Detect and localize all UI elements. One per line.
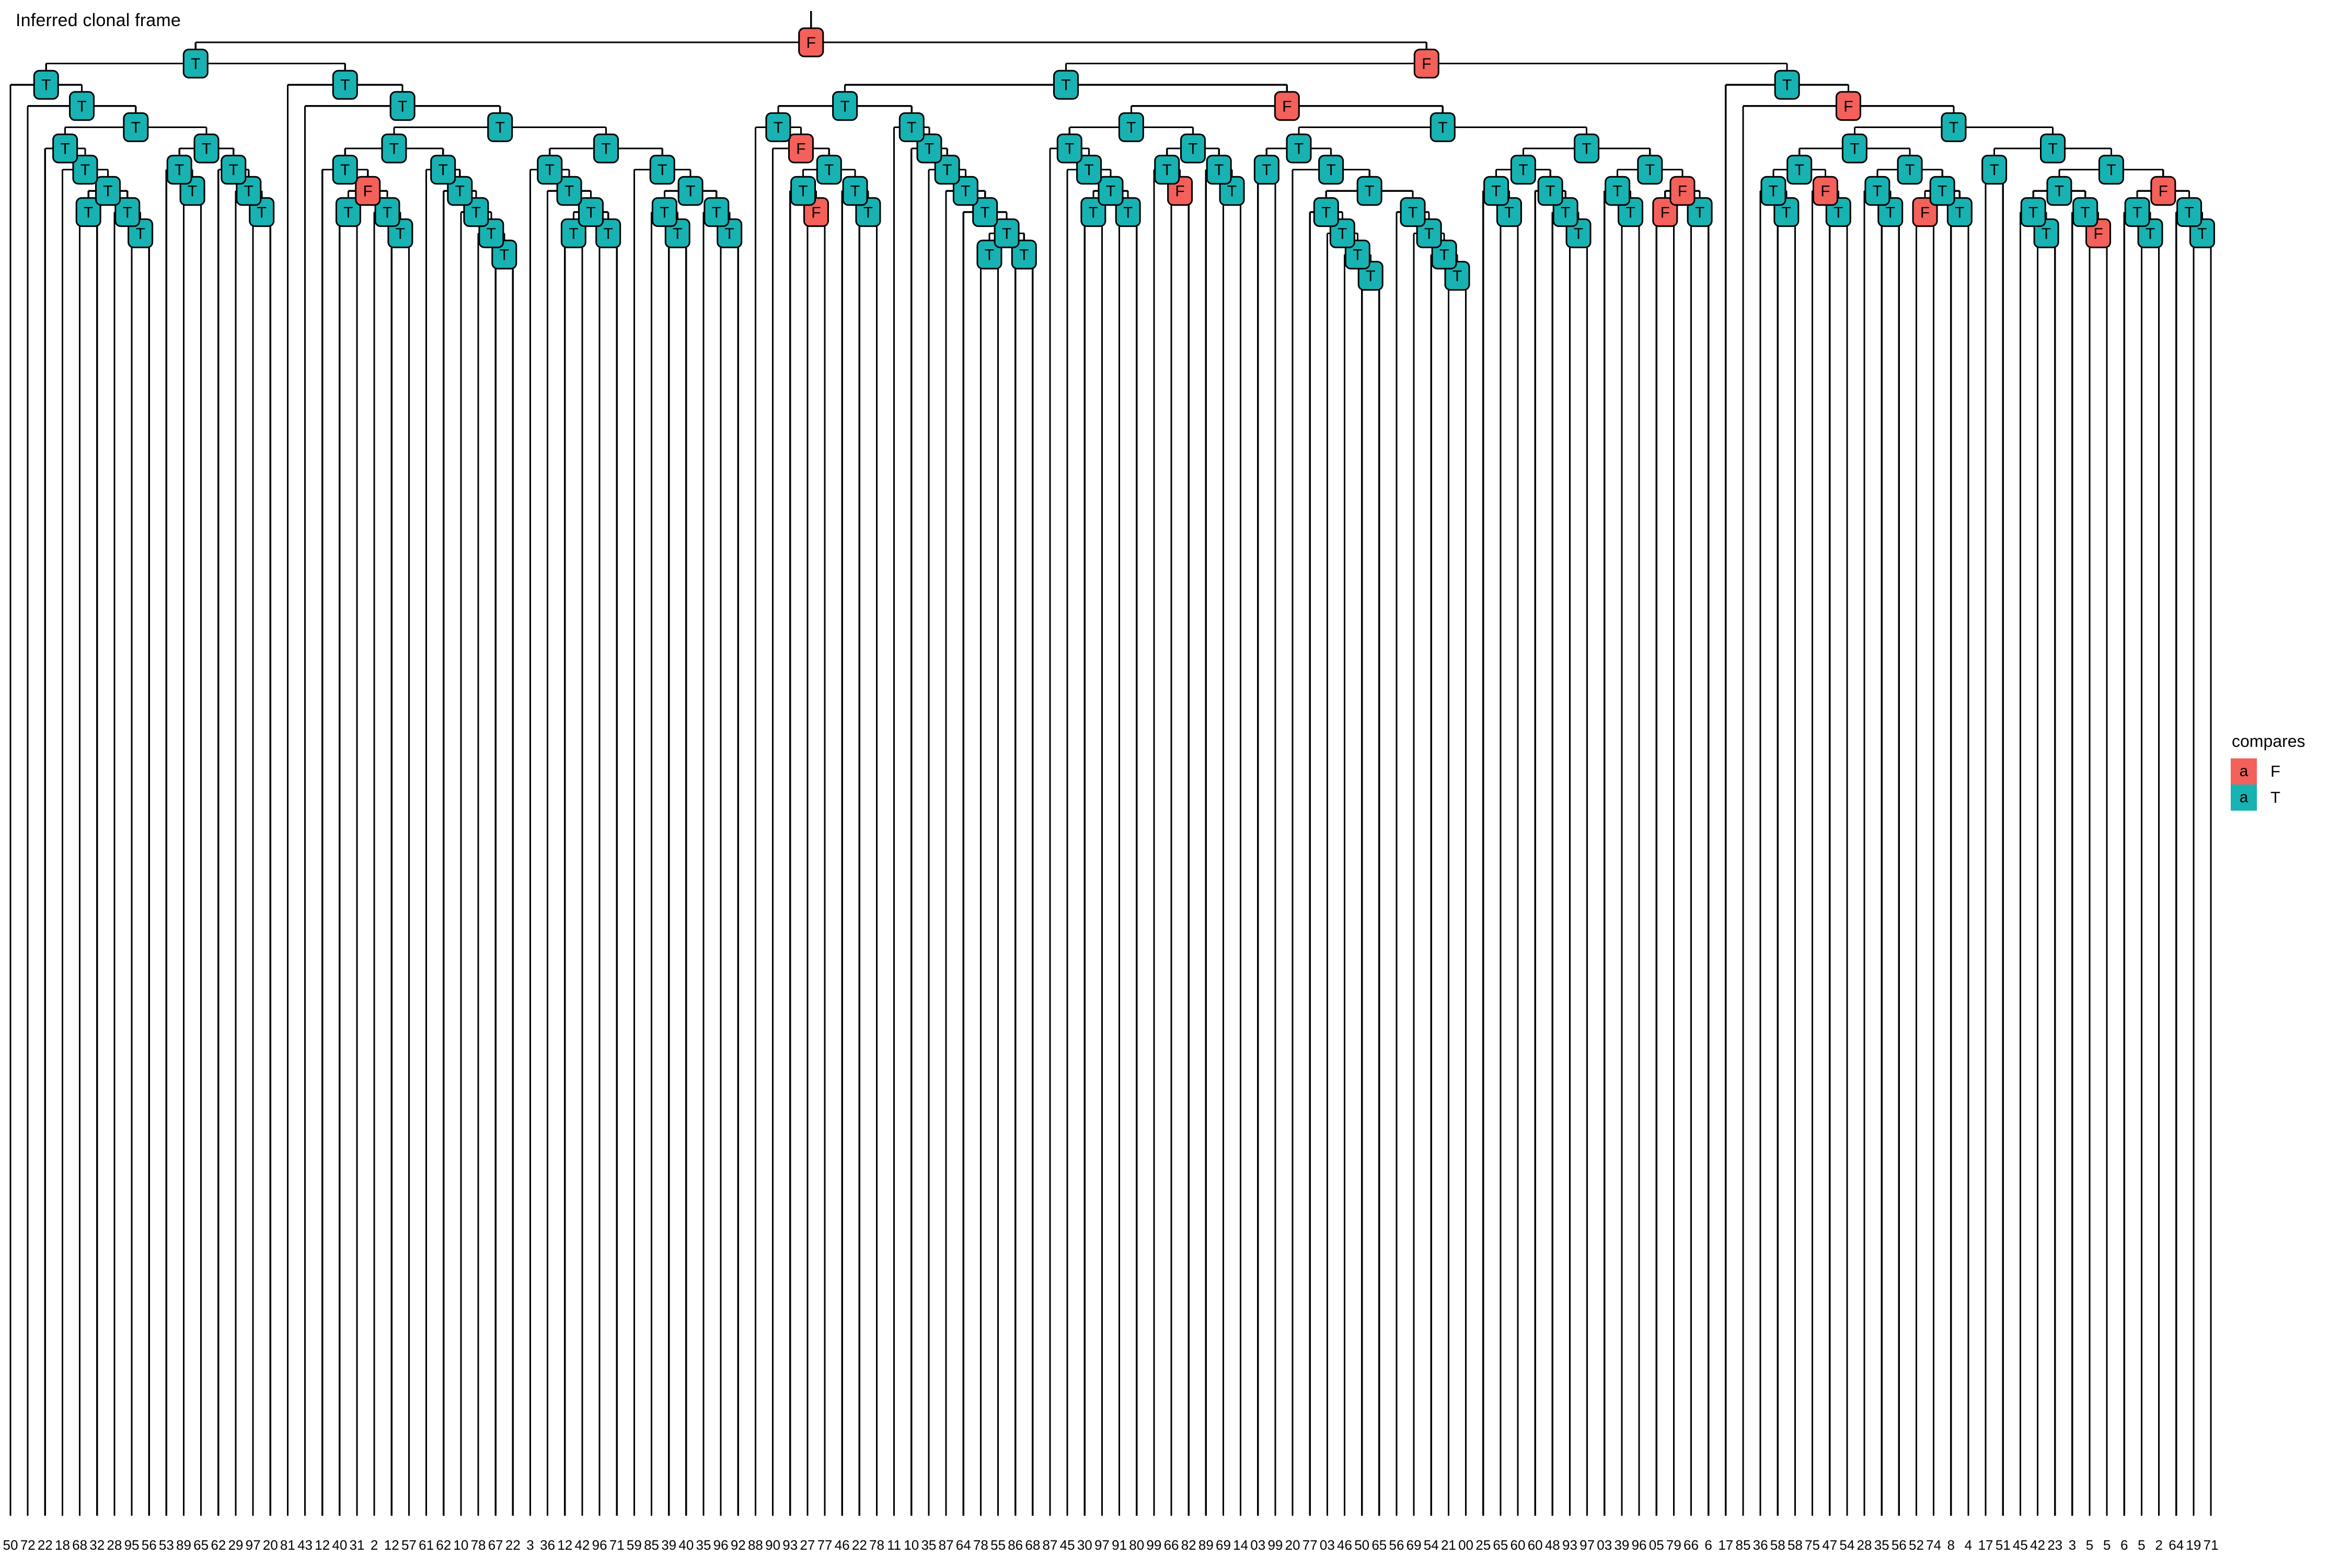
tip-label: 93 — [1562, 1537, 1577, 1553]
tip-label: 54 — [1424, 1537, 1439, 1553]
tip-label: 11 — [887, 1537, 901, 1553]
node-value-label: T — [80, 162, 90, 179]
tip-label: 40 — [332, 1537, 347, 1553]
node-value-label: T — [1424, 225, 1434, 243]
tree-node-true[interactable]: T — [2099, 156, 2123, 184]
tip-label: 27 — [800, 1537, 815, 1553]
node-value-label: T — [2106, 162, 2116, 179]
node-value-label: T — [1645, 162, 1655, 179]
node-value-label: T — [487, 225, 496, 243]
node-value-label: T — [2048, 141, 2057, 158]
node-value-label: T — [389, 141, 399, 158]
tip-label: 39 — [1614, 1537, 1629, 1553]
node-value-label: T — [1002, 225, 1011, 243]
tip-label: 72 — [20, 1537, 36, 1553]
tree-node-true[interactable]: T — [1099, 177, 1123, 205]
node-value-label: T — [1061, 77, 1070, 94]
tree-node-true[interactable]: T — [1930, 177, 1954, 205]
node-value-label: F — [1175, 183, 1184, 200]
node-value-label: T — [123, 204, 132, 221]
tip-label: 12 — [315, 1537, 330, 1553]
tip-label: 99 — [1267, 1537, 1283, 1553]
tree-node-true[interactable]: T — [124, 113, 148, 141]
tree-node-false[interactable]: F — [1836, 92, 1860, 120]
tip-label: 14 — [1233, 1537, 1248, 1553]
node-value-label: T — [798, 183, 808, 200]
node-value-label: T — [1574, 225, 1583, 243]
node-value-label: F — [1820, 183, 1830, 200]
tree-node-true[interactable]: T — [96, 177, 120, 205]
tree-node-true[interactable]: T — [1511, 156, 1535, 184]
tree-node-true[interactable]: T — [1638, 156, 1662, 184]
tip-label: 97 — [1579, 1537, 1595, 1553]
node-value-label: F — [1422, 55, 1431, 73]
legend-title: compares — [2232, 732, 2351, 751]
node-value-label: T — [569, 225, 578, 243]
tip-label: 52 — [1909, 1537, 1924, 1553]
node-value-label: T — [658, 162, 667, 179]
tree-node-true[interactable]: T — [995, 219, 1019, 247]
node-value-label: T — [1452, 268, 1462, 285]
clonal-frame-figure: Inferred clonal frame TTTTTTTTTTTTTTTTTT… — [0, 0, 2352, 1568]
tip-label: 47 — [1822, 1537, 1837, 1553]
tree-node-true[interactable]: T — [2073, 198, 2097, 226]
node-value-label: T — [686, 183, 695, 200]
tip-label: 45 — [1060, 1537, 1075, 1553]
tree-node-false[interactable]: F — [1670, 177, 1694, 205]
node-value-label: T — [925, 141, 934, 158]
node-value-label: T — [1769, 183, 1778, 200]
node-value-label: T — [1366, 268, 1375, 285]
node-value-label: T — [60, 141, 70, 158]
tip-label: 17 — [1978, 1537, 1993, 1553]
phylogenetic-tree-canvas: TTTTTTTTTTTTTTTTTTFTTTTTTTTTTTTTTTTTTTTT… — [0, 0, 2352, 1568]
tip-label: 65 — [1493, 1537, 1508, 1553]
tree-node-true[interactable]: T — [1401, 198, 1425, 226]
tree-node-false[interactable]: F — [789, 134, 813, 163]
tree-node-true[interactable]: T — [2125, 198, 2149, 226]
tip-label: 50 — [1354, 1537, 1369, 1553]
node-value-label: T — [2028, 204, 2038, 221]
tree-node-true[interactable]: T — [194, 134, 218, 163]
tree-node-true[interactable]: T — [1775, 71, 1799, 99]
tree-node-true[interactable]: T — [817, 156, 841, 184]
tip-label: 46 — [1337, 1537, 1352, 1553]
tip-label: 55 — [990, 1537, 1006, 1553]
node-value-label: F — [1678, 183, 1687, 200]
node-value-label: T — [1065, 141, 1074, 158]
node-value-label: T — [1019, 247, 1029, 264]
tip-label: 77 — [1302, 1537, 1318, 1553]
tree-node-true[interactable]: T — [1287, 134, 1311, 163]
node-value-label: T — [1439, 247, 1449, 264]
node-value-label: T — [439, 162, 448, 179]
tip-label: 5 — [2103, 1537, 2111, 1553]
tree-node-true[interactable]: T — [1254, 156, 1278, 184]
node-value-label: F — [811, 204, 821, 221]
tree-node-true[interactable]: T — [1865, 177, 1889, 205]
node-value-label: T — [1214, 162, 1224, 179]
tip-label: 68 — [1025, 1537, 1040, 1553]
node-value-label: T — [2055, 183, 2064, 200]
tip-label: 31 — [350, 1537, 365, 1553]
tree-node-true[interactable]: T — [2047, 177, 2071, 205]
node-value-label: T — [1873, 183, 1882, 200]
tip-label: 89 — [1198, 1537, 1214, 1553]
tree-node-true[interactable]: T — [1982, 156, 2007, 184]
tip-label: 22 — [38, 1537, 53, 1553]
node-value-label: T — [907, 119, 916, 136]
tree-node-true[interactable]: T — [1761, 177, 1785, 205]
node-value-label: T — [188, 183, 197, 200]
node-value-label: T — [41, 77, 51, 94]
tip-label: 42 — [2030, 1537, 2045, 1553]
tree-node-true[interactable]: T — [1942, 113, 1966, 141]
tree-node-true[interactable]: T — [1606, 177, 1630, 205]
node-value-label: T — [824, 162, 834, 179]
node-value-label: T — [1949, 119, 1958, 136]
node-value-label: T — [1582, 141, 1591, 158]
node-value-label: T — [202, 141, 211, 158]
node-value-label: T — [1353, 247, 1362, 264]
tree-node-true[interactable]: T — [579, 198, 603, 226]
tip-label: 92 — [731, 1537, 746, 1553]
node-value-label: T — [961, 183, 970, 200]
tree-node-true[interactable]: T — [390, 92, 414, 120]
node-value-label: F — [806, 34, 816, 52]
node-value-label: T — [229, 162, 238, 179]
tip-label: 79 — [1666, 1537, 1681, 1553]
node-value-label: T — [455, 183, 465, 200]
node-value-label: T — [660, 204, 669, 221]
tip-label: 56 — [1892, 1537, 1907, 1553]
node-value-label: T — [1795, 162, 1804, 179]
tree-node-true[interactable]: T — [382, 134, 406, 163]
tip-label: 88 — [748, 1537, 763, 1553]
node-value-label: T — [2132, 204, 2142, 221]
node-value-label: F — [363, 183, 373, 200]
tree-node-true[interactable]: T — [705, 198, 729, 226]
tip-label: 61 — [419, 1537, 434, 1553]
node-value-label: T — [1123, 204, 1133, 221]
tip-label: 56 — [142, 1537, 157, 1553]
node-value-label: T — [603, 225, 613, 243]
tip-label: 03 — [1320, 1537, 1335, 1553]
tip-label: 6 — [2120, 1537, 2128, 1553]
tip-label: 4 — [1965, 1537, 1972, 1553]
tip-label: 35 — [1874, 1537, 1889, 1553]
node-value-label: T — [774, 119, 783, 136]
tip-label: 85 — [1735, 1537, 1750, 1553]
tip-label: 36 — [540, 1537, 555, 1553]
node-value-label: F — [796, 141, 805, 158]
tip-label: 87 — [1043, 1537, 1058, 1553]
tree-node-true[interactable]: T — [333, 71, 357, 99]
tree-node-true[interactable]: T — [2177, 198, 2201, 226]
tip-label: 86 — [1008, 1537, 1023, 1553]
tree-node-true[interactable]: T — [833, 92, 857, 120]
tip-label: 35 — [696, 1537, 711, 1553]
tip-label: 97 — [246, 1537, 261, 1553]
tip-label: 20 — [263, 1537, 278, 1553]
tree-node-false[interactable]: F — [1813, 177, 1837, 205]
tip-label: 25 — [1475, 1537, 1491, 1553]
node-value-label: T — [383, 204, 392, 221]
node-value-label: T — [712, 204, 721, 221]
tip-label: 69 — [1216, 1537, 1231, 1553]
tip-label: 22 — [505, 1537, 521, 1553]
tip-label: 50 — [3, 1537, 18, 1553]
node-value-label: F — [1661, 204, 1670, 221]
node-value-label: T — [471, 204, 481, 221]
tip-label: 78 — [471, 1537, 486, 1553]
tip-label: 60 — [1528, 1537, 1543, 1553]
legend-label-f: F — [2270, 762, 2280, 781]
tip-label: 64 — [956, 1537, 971, 1553]
node-value-label: T — [398, 98, 407, 115]
node-value-label: T — [1782, 204, 1791, 221]
legend-entry-t[interactable]: aT — [2231, 785, 2351, 811]
tree-node-true[interactable]: T — [488, 113, 512, 141]
node-value-label: T — [1612, 183, 1622, 200]
tree-node-true[interactable]: T — [678, 177, 702, 205]
tree-node-true[interactable]: T — [1057, 134, 1081, 163]
tip-label: 90 — [765, 1537, 780, 1553]
tree-node-true[interactable]: T — [222, 156, 246, 184]
tip-label: 51 — [1996, 1537, 2011, 1553]
tip-label: 85 — [644, 1537, 659, 1553]
node-value-label: T — [1089, 204, 1098, 221]
legend-entries: aFaT — [2231, 758, 2351, 811]
tip-label: 5 — [2138, 1537, 2145, 1553]
tree-node-true[interactable]: T — [167, 156, 191, 184]
tree-node-false[interactable]: F — [2151, 177, 2175, 205]
node-value-label: T — [495, 119, 505, 136]
tip-label: 3 — [2069, 1537, 2076, 1553]
node-value-label: T — [84, 204, 93, 221]
node-value-label: T — [545, 162, 555, 179]
tip-label: 46 — [835, 1537, 850, 1553]
tip-label: 67 — [488, 1537, 503, 1553]
tip-label: 03 — [1250, 1537, 1265, 1553]
tree-node-true[interactable]: T — [594, 134, 618, 163]
tip-label: 69 — [1406, 1537, 1422, 1553]
tip-label: 45 — [2013, 1537, 2028, 1553]
tip-label: 5 — [2086, 1537, 2093, 1553]
tip-label: 03 — [1597, 1537, 1612, 1553]
tip-label: 96 — [592, 1537, 607, 1553]
node-value-label: T — [1834, 204, 1843, 221]
tip-label: 39 — [661, 1537, 676, 1553]
tree-edge-layer — [10, 11, 2211, 1516]
node-value-label: T — [601, 141, 610, 158]
node-value-label: T — [244, 183, 253, 200]
tip-label: 05 — [1649, 1537, 1664, 1553]
tip-label: 10 — [904, 1537, 919, 1553]
tree-node-true[interactable]: T — [1788, 156, 1812, 184]
tree-node-true[interactable]: T — [1054, 71, 1078, 99]
tree-node-true[interactable]: T — [1155, 156, 1179, 184]
tip-label: 80 — [1129, 1537, 1144, 1553]
tree-node-true[interactable]: T — [766, 113, 790, 141]
tip-label: 78 — [973, 1537, 988, 1553]
tip-label: 57 — [401, 1537, 417, 1553]
tip-label: 75 — [1805, 1537, 1820, 1553]
tree-node-true[interactable]: T — [650, 156, 674, 184]
node-value-label: T — [1326, 162, 1335, 179]
tree-node-true[interactable]: T — [70, 92, 94, 120]
tip-label: 96 — [713, 1537, 729, 1553]
tree-node-false[interactable]: F — [799, 28, 823, 56]
node-value-label: T — [103, 183, 112, 200]
tree-node-layer: TTTTTTTTTTTTTTTTTTFTTTTTTTTTTTTTTTTTTTTT… — [34, 28, 2214, 290]
tip-label: 18 — [55, 1537, 70, 1553]
tip-label: 62 — [211, 1537, 226, 1553]
tree-node-true[interactable]: T — [652, 198, 676, 226]
tip-label: 65 — [193, 1537, 209, 1553]
node-value-label: F — [1920, 204, 1930, 221]
node-value-label: T — [340, 77, 350, 94]
node-value-label: F — [2159, 183, 2168, 200]
node-value-label: T — [564, 183, 574, 200]
tree-node-true[interactable]: T — [183, 50, 207, 78]
node-value-label: T — [340, 162, 350, 179]
node-value-label: T — [2081, 204, 2090, 221]
node-value-label: T — [1227, 183, 1237, 200]
legend-swatch-f: a — [2231, 758, 2257, 785]
tip-label: 8 — [1947, 1537, 1955, 1553]
tip-label: 36 — [1753, 1537, 1768, 1553]
node-value-label: T — [725, 225, 734, 243]
node-value-label: F — [1282, 98, 1292, 115]
tip-label: 66 — [1684, 1537, 1699, 1553]
tip-label: 32 — [89, 1537, 105, 1553]
tree-node-false[interactable]: F — [1275, 92, 1299, 120]
tip-label: 97 — [1094, 1537, 1110, 1553]
tree-node-true[interactable]: T — [1207, 156, 1231, 184]
node-value-label: T — [1188, 141, 1197, 158]
tip-label: 71 — [2204, 1537, 2219, 1553]
legend-entry-f[interactable]: aF — [2231, 758, 2351, 785]
node-value-label: T — [1561, 204, 1570, 221]
tip-label: 23 — [2047, 1537, 2062, 1553]
tip-label: 2 — [371, 1537, 378, 1553]
node-value-label: T — [1338, 225, 1347, 243]
tree-node-true[interactable]: T — [1538, 177, 1562, 205]
tip-label: 12 — [557, 1537, 572, 1553]
node-value-label: T — [1886, 204, 1895, 221]
tree-node-false[interactable]: F — [1414, 50, 1438, 78]
node-value-label: T — [1782, 77, 1792, 94]
node-value-label: T — [1438, 119, 1447, 136]
node-value-label: T — [1084, 162, 1093, 179]
tree-node-true[interactable]: T — [34, 71, 58, 99]
node-value-label: T — [1365, 183, 1374, 200]
tip-label: 17 — [1718, 1537, 1733, 1553]
tip-label: 28 — [107, 1537, 122, 1553]
tree-node-false[interactable]: F — [356, 177, 380, 205]
tree-node-true[interactable]: T — [1181, 134, 1205, 163]
tree-node-true[interactable]: T — [791, 177, 815, 205]
node-value-label: T — [1262, 162, 1271, 179]
node-value-label: T — [2146, 225, 2155, 243]
node-value-label: F — [1843, 98, 1853, 115]
tree-node-true[interactable]: T — [1898, 156, 1922, 184]
node-value-label: T — [1126, 119, 1136, 136]
tree-node-true[interactable]: T — [538, 156, 562, 184]
tree-node-true[interactable]: T — [843, 177, 867, 205]
node-value-label: T — [500, 247, 509, 264]
tip-label: 87 — [939, 1537, 954, 1553]
tip-label: 53 — [159, 1537, 174, 1553]
tip-label: 22 — [852, 1537, 867, 1553]
tree-node-true[interactable]: T — [1431, 113, 1455, 141]
node-value-label: T — [1408, 204, 1417, 221]
tip-label: 65 — [1371, 1537, 1387, 1553]
tip-label: 64 — [2169, 1537, 2184, 1553]
tree-node-true[interactable]: T — [1319, 156, 1343, 184]
tip-label: 82 — [1181, 1537, 1196, 1553]
tip-label: 96 — [1632, 1537, 1647, 1553]
tree-node-true[interactable]: T — [1484, 177, 1508, 205]
node-value-label: T — [396, 225, 405, 243]
tree-node-true[interactable]: T — [1357, 177, 1381, 205]
tip-label: 40 — [678, 1537, 694, 1553]
node-value-label: T — [863, 204, 873, 221]
legend-swatch-t: a — [2231, 785, 2257, 811]
node-value-label: T — [1989, 162, 1999, 179]
tip-label: 77 — [817, 1537, 833, 1553]
tip-label: 78 — [869, 1537, 884, 1553]
tree-node-true[interactable]: T — [2021, 198, 2045, 226]
node-value-label: T — [673, 225, 682, 243]
tip-label: 93 — [782, 1537, 798, 1553]
legend: compares aFaT — [2231, 732, 2351, 811]
tip-label: 62 — [436, 1537, 451, 1553]
tip-label: 59 — [627, 1537, 642, 1553]
node-value-label: T — [2197, 225, 2207, 243]
tip-label: 20 — [1285, 1537, 1300, 1553]
tree-node-true[interactable]: T — [431, 156, 455, 184]
tip-label: 56 — [1389, 1537, 1404, 1553]
node-value-label: T — [1625, 204, 1635, 221]
node-value-label: T — [175, 162, 184, 179]
tree-node-true[interactable]: T — [900, 113, 924, 141]
node-value-label: T — [1106, 183, 1115, 200]
tip-label: 89 — [176, 1537, 191, 1553]
tree-node-true[interactable]: T — [333, 156, 357, 184]
tip-label: 43 — [297, 1537, 313, 1553]
node-value-label: F — [2093, 225, 2103, 243]
tree-node-true[interactable]: T — [53, 134, 77, 163]
node-value-label: T — [77, 98, 86, 115]
node-value-label: T — [1162, 162, 1172, 179]
node-value-label: T — [131, 119, 141, 136]
node-value-label: T — [1695, 204, 1704, 221]
tip-label: 68 — [72, 1537, 87, 1553]
tip-label: 35 — [921, 1537, 936, 1553]
tree-node-true[interactable]: T — [1575, 134, 1599, 163]
tip-label: 60 — [1511, 1537, 1526, 1553]
tip-label: 54 — [1839, 1537, 1854, 1553]
tip-label: 12 — [384, 1537, 399, 1553]
tip-label: 29 — [228, 1537, 243, 1553]
node-value-label: T — [257, 204, 267, 221]
tree-node-true[interactable]: T — [1119, 113, 1143, 141]
tree-node-true[interactable]: T — [1314, 198, 1338, 226]
tree-node-true[interactable]: T — [1842, 134, 1866, 163]
tree-node-true[interactable]: T — [2041, 134, 2065, 163]
